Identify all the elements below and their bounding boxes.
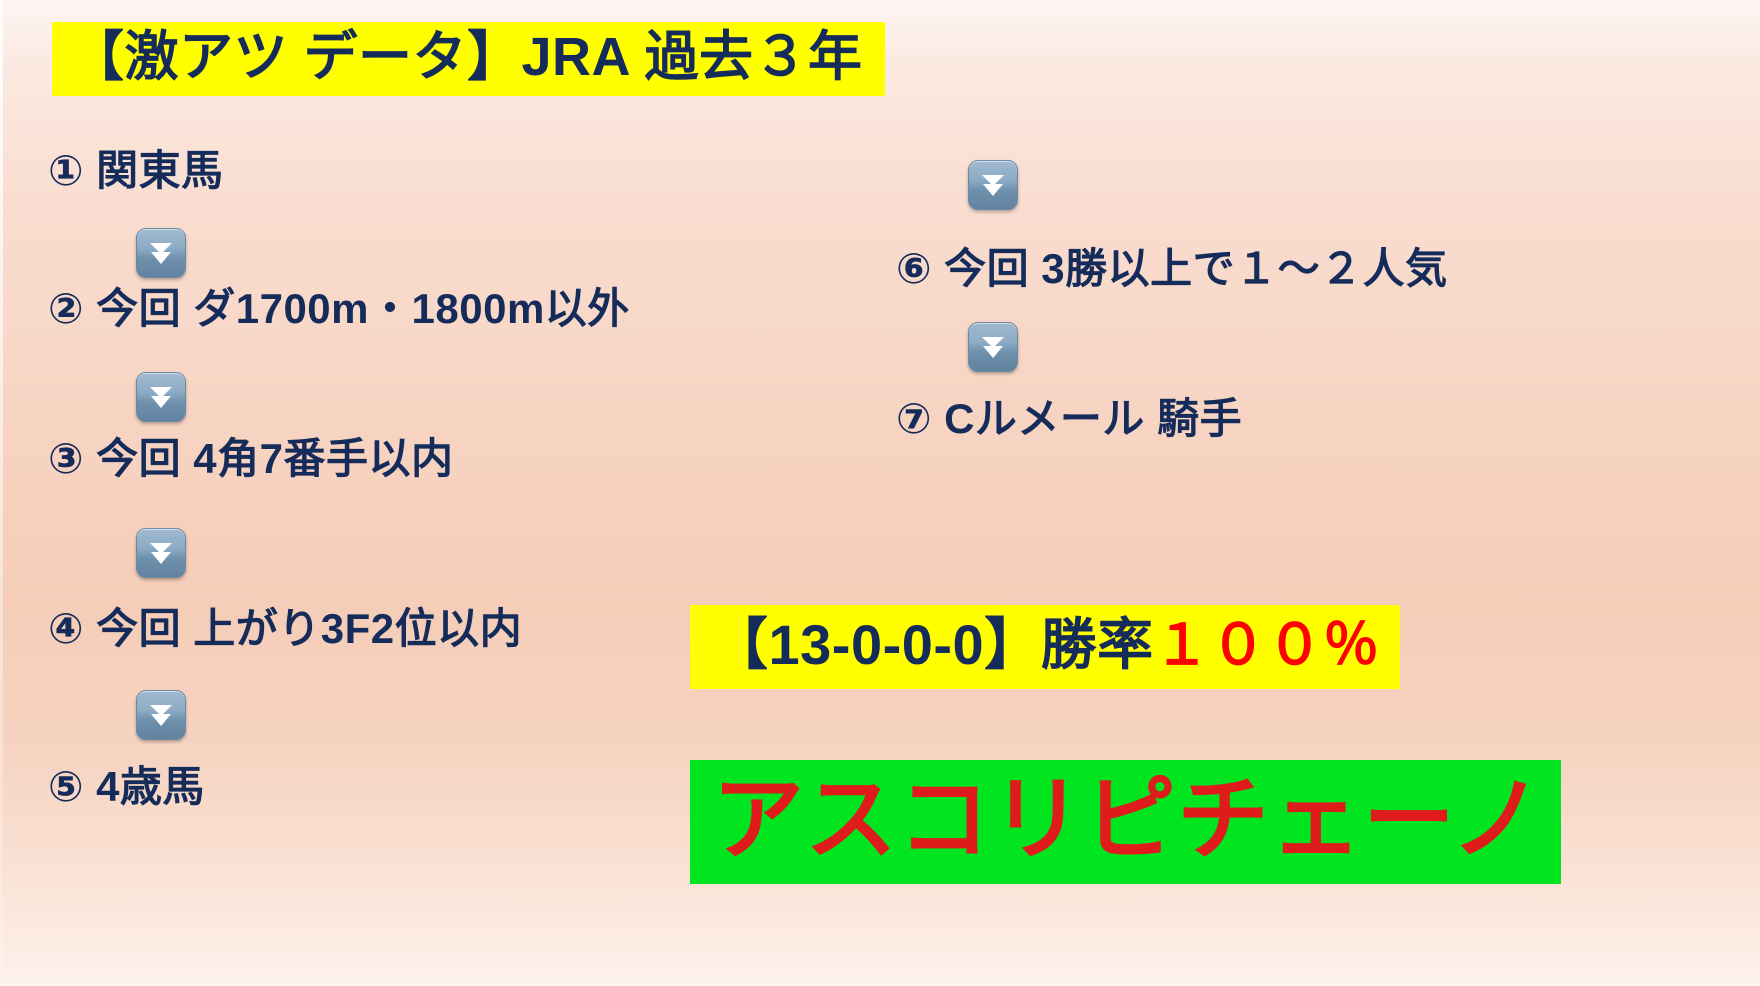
title-highlight-band: 【激アツ データ】JRA 過去３年 <box>52 22 885 96</box>
result-win-rate: １００％ <box>1154 613 1380 676</box>
page-title: 【激アツ データ】JRA 過去３年 <box>70 27 863 87</box>
condition-number-6: ⑥ <box>896 245 932 292</box>
result-record-label: 【13-0-0-0】勝率 <box>712 613 1154 676</box>
condition-number-1: ① <box>48 147 84 194</box>
slide-canvas: 【激アツ データ】JRA 過去３年 ①関東馬 ②今回 ダ1700m・1800m以… <box>0 0 1760 986</box>
condition-label-6: 今回 3勝以上で１～２人気 <box>944 245 1448 292</box>
condition-item-6: ⑥今回 3勝以上で１～２人気 <box>896 248 1448 290</box>
condition-number-5: ⑤ <box>48 763 84 810</box>
result-record-band: 【13-0-0-0】勝率１００％ <box>690 605 1400 689</box>
condition-item-7: ⑦Cルメール 騎手 <box>896 398 1242 440</box>
double-chevron-down-icon <box>968 160 1018 210</box>
double-chevron-down-icon <box>136 690 186 740</box>
condition-label-7: Cルメール 騎手 <box>944 395 1242 442</box>
condition-number-4: ④ <box>48 605 84 652</box>
condition-number-2: ② <box>48 285 84 332</box>
condition-item-3: ③今回 4角7番手以内 <box>48 438 453 480</box>
horse-name: アスコリピチェーノ <box>712 769 1543 871</box>
double-chevron-down-icon <box>136 372 186 422</box>
condition-item-5: ⑤4歳馬 <box>48 766 205 808</box>
condition-label-3: 今回 4角7番手以内 <box>96 435 453 482</box>
double-chevron-down-icon <box>136 528 186 578</box>
condition-item-2: ②今回 ダ1700m・1800m以外 <box>48 288 630 330</box>
condition-number-3: ③ <box>48 435 84 482</box>
condition-label-1: 関東馬 <box>96 147 224 194</box>
condition-label-5: 4歳馬 <box>96 763 205 810</box>
double-chevron-down-icon <box>136 228 186 278</box>
horse-name-band: アスコリピチェーノ <box>690 760 1561 884</box>
condition-label-4: 今回 上がり3F2位以内 <box>96 605 522 652</box>
double-chevron-down-icon <box>968 322 1018 372</box>
condition-number-7: ⑦ <box>896 395 932 442</box>
condition-item-4: ④今回 上がり3F2位以内 <box>48 608 522 650</box>
condition-label-2: 今回 ダ1700m・1800m以外 <box>96 285 630 332</box>
condition-item-1: ①関東馬 <box>48 150 224 192</box>
